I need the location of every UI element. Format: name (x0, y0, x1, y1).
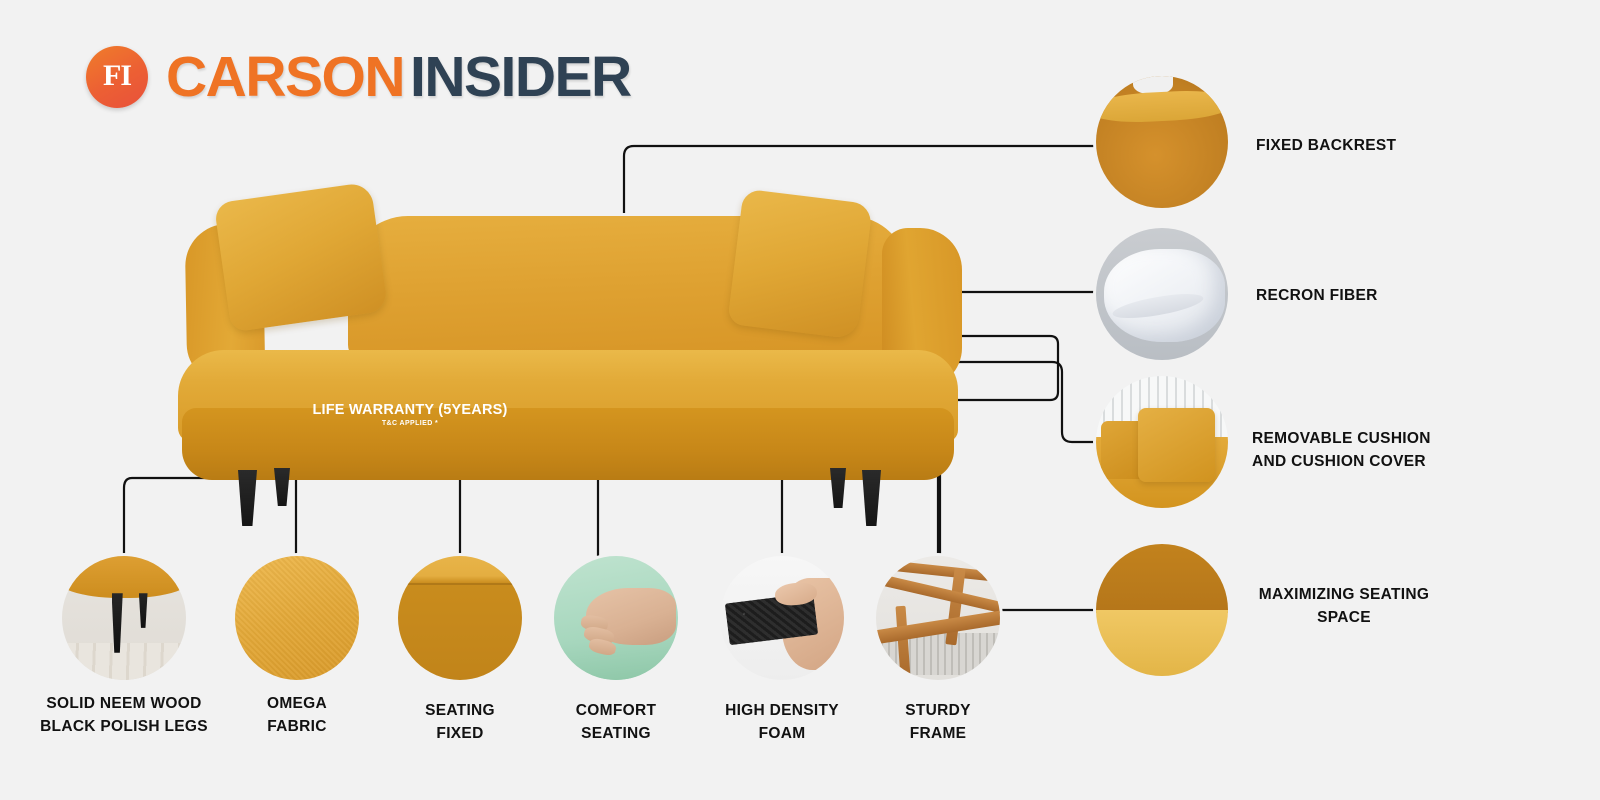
callout-label-sturdy-frame: STURDY FRAME (864, 700, 1012, 746)
callout-label-maximizing-seating: MAXIMIZING SEATING SPACE (1244, 584, 1444, 630)
label-line: SOLID NEEM WOOD (20, 693, 228, 716)
label-line: HIGH DENSITY (708, 700, 856, 723)
label-line: FABRIC (223, 716, 371, 739)
brand-header: FI CARSON INSIDER (86, 44, 631, 110)
label-line: MAXIMIZING SEATING (1244, 584, 1444, 607)
fi-monogram-icon: FI (86, 46, 148, 108)
callout-label-removable-cushion: REMOVABLE CUSHION AND CUSHION COVER (1252, 428, 1572, 474)
hand-on-green-foam-thumb (554, 556, 678, 680)
hand-squeezing-black-foam-thumb (720, 556, 844, 680)
black-polish-legs-thumb (62, 556, 186, 680)
label-line: COMFORT (542, 700, 690, 723)
sofa-throw-pillow-right (727, 189, 873, 340)
seating-fixed-thumb (398, 556, 522, 680)
label-line: AND CUSHION COVER (1252, 451, 1572, 474)
sofa-leg-back-right (830, 468, 846, 508)
label-line: SEATING (386, 700, 534, 723)
page-title: CARSON INSIDER (166, 44, 631, 110)
callout-label-high-density-foam: HIGH DENSITY FOAM (708, 700, 856, 746)
sofa-illustration: LIFE WARRANTY (5YEARS) T&C APPLIED * (170, 190, 960, 500)
callout-thumb-seating-fixed[interactable] (398, 556, 522, 680)
label-line: FIXED BACKREST (1256, 135, 1556, 158)
label-line: FOAM (708, 723, 856, 746)
callout-thumb-maximizing-seating[interactable] (1096, 544, 1228, 676)
yellow-cushions-thumb (1096, 376, 1228, 508)
label-line: REMOVABLE CUSHION (1252, 428, 1572, 451)
label-line: SPACE (1244, 607, 1444, 630)
callout-thumb-omega-fabric[interactable] (235, 556, 359, 680)
callout-label-recron-fiber: RECRON FIBER (1256, 285, 1556, 308)
wooden-frame-thumb (876, 556, 1000, 680)
callout-thumb-neem-wood-legs[interactable] (62, 556, 186, 680)
warranty-primary-text: LIFE WARRANTY (5YEARS) (260, 402, 560, 418)
infographic-canvas: FI CARSON INSIDER (0, 0, 1600, 800)
callout-thumb-sturdy-frame[interactable] (876, 556, 1000, 680)
brand-name-secondary: INSIDER (410, 44, 631, 110)
warranty-badge: LIFE WARRANTY (5YEARS) T&C APPLIED * (260, 402, 560, 427)
logo-monogram-text: FI (103, 61, 131, 91)
label-line: BLACK POLISH LEGS (20, 716, 228, 739)
label-line: FIXED (386, 723, 534, 746)
warranty-terms-text: T&C APPLIED * (260, 420, 560, 427)
callout-thumb-fixed-backrest[interactable] (1096, 76, 1228, 208)
callout-thumb-removable-cushion[interactable] (1096, 376, 1228, 508)
label-line: STURDY (864, 700, 1012, 723)
callout-label-omega-fabric: OMEGA FABRIC (223, 693, 371, 739)
callout-label-neem-wood-legs: SOLID NEEM WOOD BLACK POLISH LEGS (20, 693, 228, 739)
sofa-leg-front-right (862, 470, 881, 526)
callout-thumb-recron-fiber[interactable] (1096, 228, 1228, 360)
label-line: RECRON FIBER (1256, 285, 1556, 308)
callout-label-comfort-seating: COMFORT SEATING (542, 700, 690, 746)
callout-label-seating-fixed: SEATING FIXED (386, 700, 534, 746)
sofa-backrest-thumb (1096, 76, 1228, 208)
callout-thumb-comfort-seating[interactable] (554, 556, 678, 680)
seat-space-thumb (1096, 544, 1228, 676)
sofa-leg-back-left (274, 468, 290, 506)
callout-label-fixed-backrest: FIXED BACKREST (1256, 135, 1556, 158)
sofa-leg-front-left (238, 470, 257, 526)
omega-fabric-thumb (235, 556, 359, 680)
sofa-throw-pillow-left (214, 182, 389, 333)
label-line: OMEGA (223, 693, 371, 716)
label-line: SEATING (542, 723, 690, 746)
brand-name-primary: CARSON (166, 44, 404, 110)
label-line: FRAME (864, 723, 1012, 746)
white-fiber-pillow-thumb (1096, 228, 1228, 360)
callout-thumb-high-density-foam[interactable] (720, 556, 844, 680)
